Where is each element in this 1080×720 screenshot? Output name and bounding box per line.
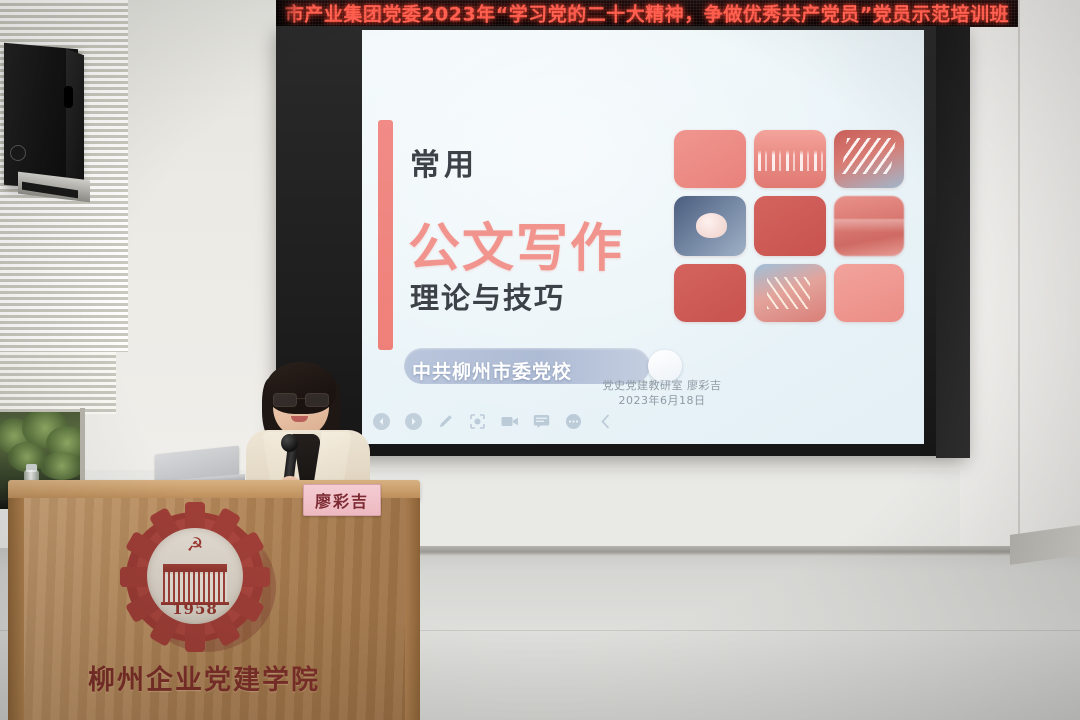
tile-plain-bottom-right: [834, 264, 904, 322]
credit-date: 2023年6月18日: [552, 393, 772, 408]
venetian-blinds-lower: [0, 352, 116, 414]
banner-edge-shadow: [276, 0, 300, 26]
organization-pill-label: 中共柳州市委党校: [412, 357, 572, 384]
podium-left-edge: [8, 498, 24, 720]
tile-ship-sails: [834, 130, 904, 188]
loudspeaker-port: [64, 86, 73, 108]
tile-plain-top-left: [674, 130, 746, 188]
nameplate-text: 廖彩吉: [315, 488, 369, 512]
baseboard-trim: [330, 546, 1080, 556]
institute-emblem: ☭ 1958: [120, 508, 292, 648]
slide-title-small: 常用: [410, 140, 478, 184]
presenter-credit: 党史党建教研室 廖彩吉 2023年6月18日: [552, 378, 772, 408]
laser-pointer-icon[interactable]: [468, 412, 487, 431]
loudspeaker-front-face: [66, 49, 84, 196]
emblem-building-columns: [163, 572, 227, 602]
slide-accent-bar: [378, 120, 393, 350]
loudspeaker-badge: [10, 145, 26, 161]
credit-department-and-name: 党史党建教研室 廖彩吉: [552, 378, 772, 393]
institute-name-label: 柳州企业党建学院: [88, 658, 308, 697]
microphone-head: [281, 434, 298, 452]
hammer-and-sickle-icon: ☭: [185, 536, 205, 556]
wall-corner-edge: [1018, 0, 1020, 560]
comment-icon[interactable]: [532, 412, 551, 431]
projection-screen-side-shade: [936, 26, 970, 458]
led-scrolling-banner: 市产业集团党委2023年“学习党的二十大精神，争做优秀共产党员”党员示范培训班: [276, 0, 1018, 27]
video-camera-icon[interactable]: [500, 412, 519, 431]
pen-annotate-icon[interactable]: [436, 412, 455, 431]
slide-title-main: 公文写作: [408, 206, 624, 281]
tile-machinery: [754, 264, 826, 322]
presentation-slide[interactable]: 常用 公文写作 理论与技巧 中共柳州市委党校 党史党建教研室 廖彩吉 2023年…: [362, 30, 924, 444]
tile-hands-handshake: [674, 196, 746, 256]
emblem-year-label: 1958: [147, 600, 243, 618]
led-banner-text: 市产业集团党委2023年“学习党的二十大精神，争做优秀共产党员”党员示范培训班: [285, 0, 1009, 27]
emblem-inner-disc: ☭ 1958: [147, 528, 243, 624]
speaker-nameplate: 廖彩吉: [303, 484, 381, 516]
tile-plain-center: [754, 196, 826, 256]
collapse-bar-icon[interactable]: [596, 412, 615, 431]
lecture-hall-photo: 市产业集团党委2023年“学习党的二十大精神，争做优秀共产党员”党员示范培训班 …: [0, 0, 1080, 720]
more-options-icon[interactable]: [564, 412, 583, 431]
podium-right-edge: [405, 498, 420, 720]
eyeglasses: [272, 393, 330, 405]
tile-plain-bottom-left: [674, 264, 746, 322]
tile-city-skyline: [754, 130, 826, 188]
slide-media-control-bar[interactable]: [372, 412, 615, 431]
next-slide-icon[interactable]: [404, 412, 423, 431]
right-wall: [960, 0, 1080, 560]
slide-photo-collage: [674, 130, 879, 330]
tile-blur-stairs: [834, 196, 904, 256]
slide-title-sub: 理论与技巧: [410, 275, 565, 317]
